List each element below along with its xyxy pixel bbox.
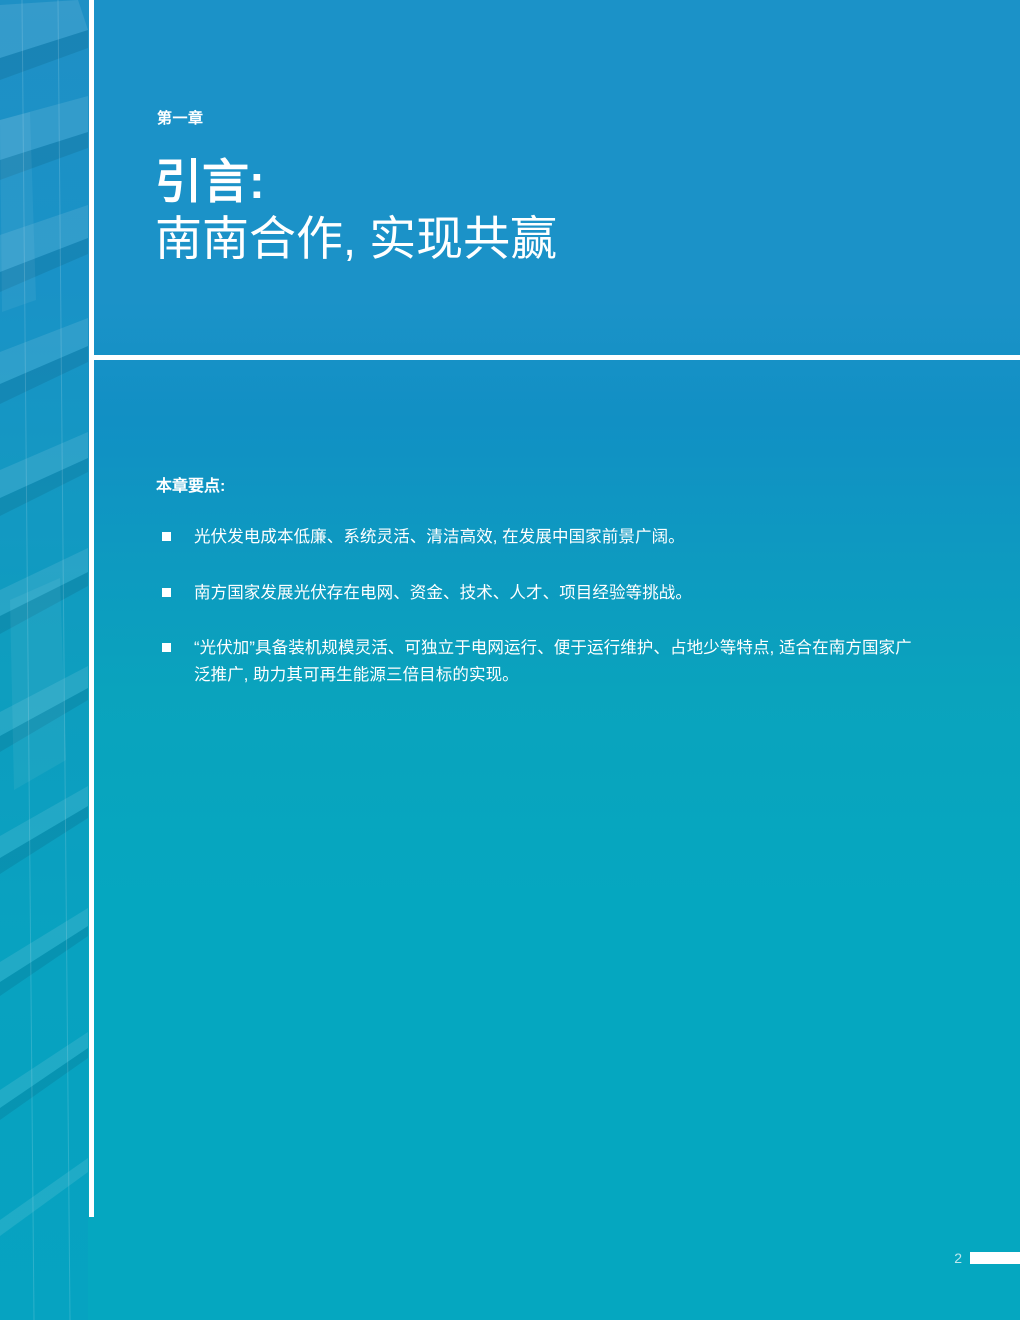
page-title: 引言: xyxy=(155,155,265,210)
horizontal-divider-rule xyxy=(94,355,1020,360)
square-bullet-icon xyxy=(162,588,171,597)
chapter-label: 第一章 xyxy=(157,110,204,128)
list-item-text: 光伏发电成本低廉、系统灵活、清洁高效, 在发展中国家前景广阔。 xyxy=(194,528,685,546)
solar-panel-texture-strip xyxy=(0,0,88,1320)
vertical-divider-rule xyxy=(89,0,94,1217)
square-bullet-icon xyxy=(162,643,171,652)
list-item-text: 南方国家发展光伏存在电网、资金、技术、人才、项目经验等挑战。 xyxy=(194,584,692,602)
list-item: “光伏加”具备装机规模灵活、可独立于电网运行、便于运行维护、占地少等特点, 适合… xyxy=(156,635,926,688)
chapter-divider-page: 第一章 引言: 南南合作, 实现共赢 本章要点: 光伏发电成本低廉、系统灵活、清… xyxy=(0,0,1020,1320)
page-number: 2 xyxy=(954,1251,962,1265)
list-item-text: “光伏加”具备装机规模灵活、可独立于电网运行、便于运行维护、占地少等特点, 适合… xyxy=(194,639,912,684)
list-item: 南方国家发展光伏存在电网、资金、技术、人才、项目经验等挑战。 xyxy=(156,580,926,607)
square-bullet-icon xyxy=(162,532,171,541)
footer-accent-bar xyxy=(970,1252,1020,1264)
key-points-heading: 本章要点: xyxy=(156,477,225,498)
page-subtitle: 南南合作, 实现共赢 xyxy=(155,212,557,267)
key-points-list: 光伏发电成本低廉、系统灵活、清洁高效, 在发展中国家前景广阔。 南方国家发展光伏… xyxy=(156,524,926,689)
list-item: 光伏发电成本低廉、系统灵活、清洁高效, 在发展中国家前景广阔。 xyxy=(156,524,926,551)
